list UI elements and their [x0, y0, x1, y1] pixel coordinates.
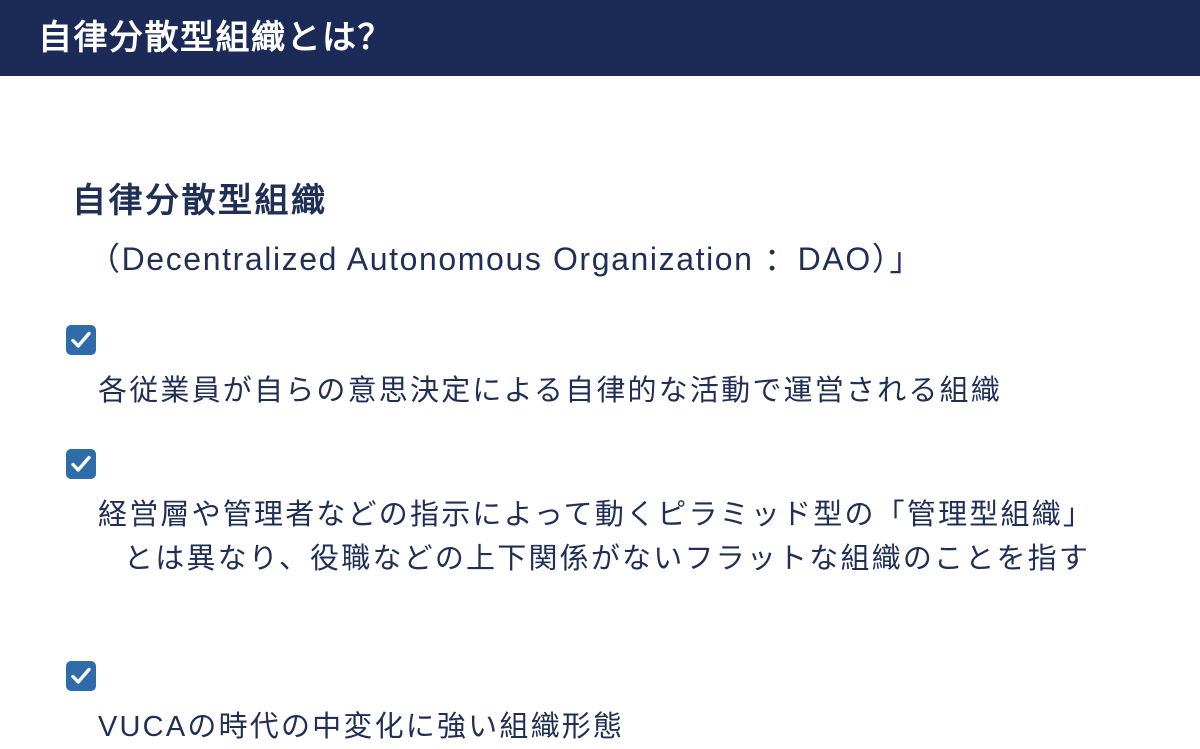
heading-block: 自律分散型組織 （Decentralized Autonomous Organi… — [72, 178, 1172, 280]
page-title: 自律分散型組織とは？ — [38, 15, 393, 61]
list-item-line1: 経営層や管理者などの指示によって動くピラミッド型の「管理型組織」 — [98, 499, 1094, 531]
check-box-icon — [66, 661, 96, 691]
list-item-line1: VUCAの時代の中変化に強い組織形態 — [98, 711, 624, 743]
heading-main: 自律分散型組織 — [72, 178, 1172, 224]
header-bar: 自律分散型組織とは？ — [0, 0, 1200, 76]
list-item: 経営層や管理者などの指示によって動くピラミッド型の「管理型組織」 とは異なり、役… — [66, 449, 1176, 625]
heading-subtitle-english: （Decentralized Autonomous Organization ：… — [88, 238, 1172, 280]
bullet-list: 各従業員が自らの意思決定による自律的な活動で運営される組織 経営層や管理者などの… — [66, 325, 1176, 749]
slide: 自律分散型組織とは？ 自律分散型組織 （Decentralized Autono… — [0, 0, 1200, 675]
list-item: 各従業員が自らの意思決定による自律的な活動で運営される組織 — [66, 325, 1176, 413]
list-item: VUCAの時代の中変化に強い組織形態 — [66, 661, 1176, 749]
list-item-line1: 各従業員が自らの意思決定による自律的な活動で運営される組織 — [98, 375, 1002, 407]
check-box-icon — [66, 449, 96, 479]
check-box-icon — [66, 325, 96, 355]
list-item-line2: とは異なり、役職などの上下関係がないフラットな組織のことを指す — [124, 537, 1094, 581]
